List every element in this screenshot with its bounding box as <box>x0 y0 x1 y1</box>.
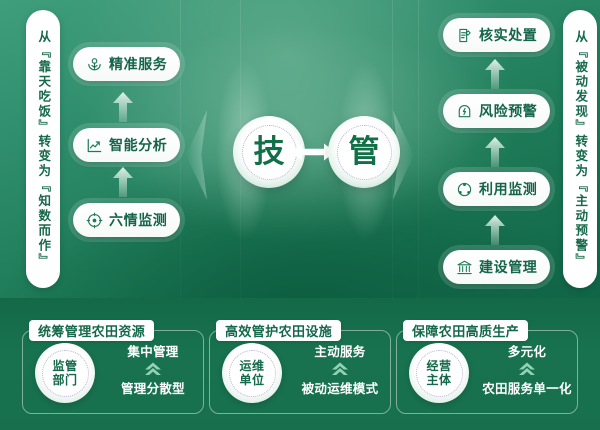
card-verification-handling[interactable]: 核实处置 <box>443 18 550 52</box>
role-line-2: 部门 <box>52 374 77 387</box>
right-statement-panel: 从『被动发现』转变为『主动预警』 <box>563 10 597 288</box>
center-circle-glyph: 技 <box>254 137 285 168</box>
role-line-1: 监管 <box>52 360 77 373</box>
bottom-panel-farmland-facilities: 高效管护农田设施 运维 单位 主动服务 被动运维模式 <box>209 330 391 414</box>
card-label: 六情监测 <box>109 213 167 227</box>
role-line-1: 运维 <box>239 360 264 373</box>
card-label: 利用监测 <box>479 182 537 196</box>
panel-title: 保障农田高质生产 <box>403 320 528 341</box>
flow-arrow-up-icon <box>484 137 506 167</box>
card-risk-warning[interactable]: 风险预警 <box>443 94 550 128</box>
decor-vertical-line <box>418 0 419 300</box>
checklist-clipboard-icon <box>456 27 473 44</box>
card-intelligent-analysis[interactable]: 智能分析 <box>73 128 180 162</box>
bottom-panel-farmland-resources: 统筹管理农田资源 监管 部门 集中管理 管理分散型 <box>22 330 204 414</box>
center-circle-glyph: 管 <box>349 137 380 168</box>
role-badge-inner: 经营 主体 <box>416 350 463 397</box>
flow-arrow-up-icon <box>112 167 134 197</box>
chevron-up-icon <box>143 361 163 377</box>
transition-block: 主动服务 被动运维模式 <box>290 341 390 397</box>
transition-block: 多元化 农田服务单一化 <box>477 341 577 397</box>
center-circle-inner-ring: 技 <box>242 125 297 180</box>
role-badge-inner: 运维 单位 <box>229 350 276 397</box>
alert-shield-icon <box>456 103 473 120</box>
transition-from: 管理分散型 <box>121 378 185 397</box>
center-circle-inner-ring: 管 <box>337 125 392 180</box>
center-circle-management: 管 <box>328 116 400 188</box>
line-chart-up-icon <box>86 137 103 154</box>
transition-goal: 多元化 <box>508 341 546 360</box>
decor-vertical-line <box>180 0 181 300</box>
right-statement-text: 从『被动发现』转变为『主动预警』 <box>574 30 587 268</box>
bank-building-icon <box>456 259 473 276</box>
role-badge: 监管 部门 <box>35 343 95 403</box>
transition-from: 农田服务单一化 <box>482 378 572 397</box>
role-line-1: 经营 <box>426 360 451 373</box>
card-label: 精准服务 <box>109 57 167 71</box>
card-six-condition-monitoring[interactable]: 六情监测 <box>73 203 180 237</box>
left-statement-panel: 从『靠天吃饭』转变为『知数而作』 <box>26 10 60 288</box>
recycle-nodes-icon <box>456 181 473 198</box>
transition-goal: 主动服务 <box>314 341 365 360</box>
flow-arrow-up-icon <box>484 59 506 89</box>
role-badge: 运维 单位 <box>222 343 282 403</box>
card-label: 核实处置 <box>479 28 537 42</box>
transition-from: 被动运维模式 <box>302 378 379 397</box>
role-line-2: 单位 <box>239 374 264 387</box>
chevron-up-icon <box>517 361 537 377</box>
flow-arrow-up-icon <box>112 92 134 122</box>
role-badge: 经营 主体 <box>409 343 469 403</box>
bottom-panel-high-quality-production: 保障农田高质生产 经营 主体 多元化 农田服务单一化 <box>396 330 578 414</box>
card-construction-management[interactable]: 建设管理 <box>443 250 550 284</box>
hands-holding-plant-icon <box>86 56 103 73</box>
chevron-up-icon <box>330 361 350 377</box>
card-utilization-monitoring[interactable]: 利用监测 <box>443 172 550 206</box>
flow-arrow-up-icon <box>484 215 506 245</box>
card-label: 建设管理 <box>479 260 537 274</box>
panel-title: 统筹管理农田资源 <box>29 320 154 341</box>
card-label: 风险预警 <box>479 104 537 118</box>
role-line-2: 主体 <box>426 374 451 387</box>
card-label: 智能分析 <box>109 138 167 152</box>
panel-title: 高效管护农田设施 <box>216 320 341 341</box>
infographic-canvas: 从『靠天吃饭』转变为『知数而作』 从『被动发现』转变为『主动预警』 精准服务 智… <box>0 0 600 430</box>
transition-block: 集中管理 管理分散型 <box>103 341 203 397</box>
role-badge-inner: 监管 部门 <box>42 350 89 397</box>
card-precision-service[interactable]: 精准服务 <box>73 47 180 81</box>
transition-goal: 集中管理 <box>127 341 178 360</box>
crosshair-target-icon <box>86 212 103 229</box>
left-statement-text: 从『靠天吃饭』转变为『知数而作』 <box>37 30 50 268</box>
